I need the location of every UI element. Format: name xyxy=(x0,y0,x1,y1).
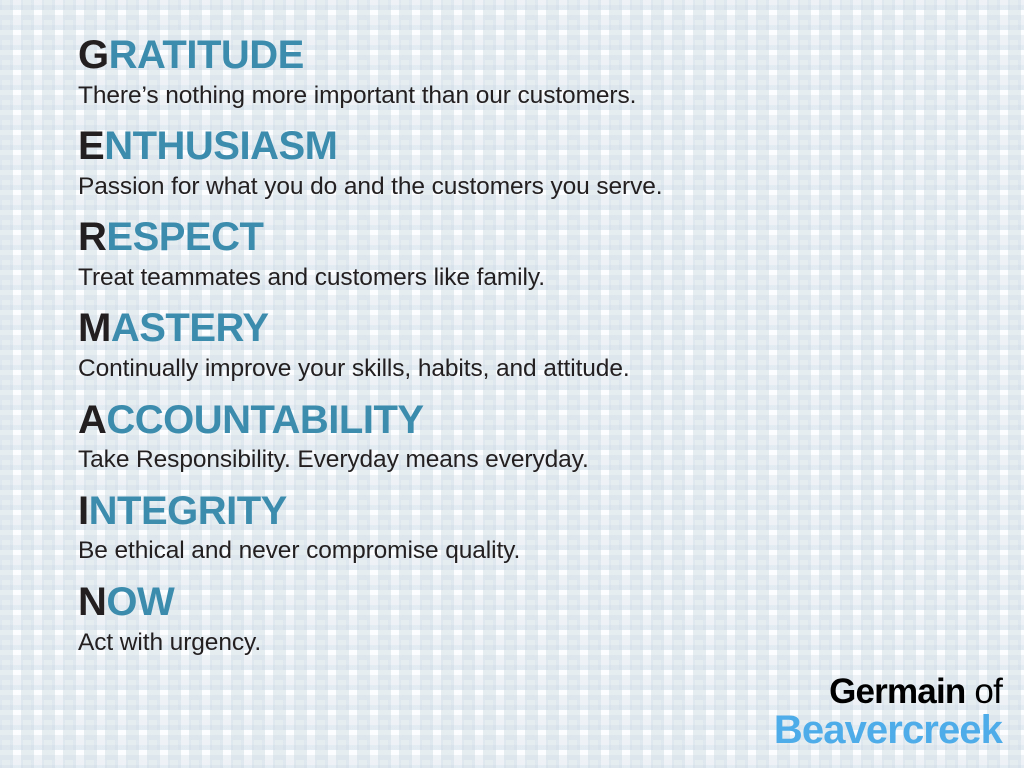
value-initial-letter: I xyxy=(78,489,89,533)
values-poster: GRATITUDE There’s nothing more important… xyxy=(0,0,1024,768)
value-heading-remainder: RATITUDE xyxy=(109,33,304,77)
value-block-respect: RESPECT Treat teammates and customers li… xyxy=(78,216,978,294)
brand-logo-name: Germain xyxy=(829,672,965,711)
value-heading-integrity: INTEGRITY xyxy=(78,490,978,533)
value-block-mastery: MASTERY Continually improve your skills,… xyxy=(78,307,978,385)
value-description-gratitude: There’s nothing more important than our … xyxy=(78,80,978,112)
value-heading-respect: RESPECT xyxy=(78,216,978,259)
value-heading-gratitude: GRATITUDE xyxy=(78,34,978,77)
value-initial-letter: E xyxy=(78,124,104,168)
value-heading-remainder: OW xyxy=(106,580,174,624)
value-heading-accountability: ACCOUNTABILITY xyxy=(78,399,978,442)
value-description-mastery: Continually improve your skills, habits,… xyxy=(78,353,978,385)
value-heading-remainder: ASTERY xyxy=(111,306,269,350)
value-description-integrity: Be ethical and never compromise quality. xyxy=(78,535,978,567)
value-heading-remainder: ESPECT xyxy=(106,215,263,259)
value-initial-letter: G xyxy=(78,33,109,77)
value-heading-remainder: NTEGRITY xyxy=(89,489,287,533)
value-description-enthusiasm: Passion for what you do and the customer… xyxy=(78,171,978,203)
value-description-now: Act with urgency. xyxy=(78,627,978,659)
brand-logo-location: Beavercreek xyxy=(774,710,1002,750)
value-heading-mastery: MASTERY xyxy=(78,307,978,350)
brand-logo: Germain of Beavercreek xyxy=(774,674,1002,750)
value-heading-remainder: CCOUNTABILITY xyxy=(106,398,423,442)
value-heading-remainder: NTHUSIASM xyxy=(104,124,337,168)
value-description-accountability: Take Responsibility. Everyday means ever… xyxy=(78,444,978,476)
value-initial-letter: R xyxy=(78,215,106,259)
value-block-gratitude: GRATITUDE There’s nothing more important… xyxy=(78,34,978,112)
value-initial-letter: N xyxy=(78,580,106,624)
value-initial-letter: A xyxy=(78,398,106,442)
brand-logo-name-line: Germain of xyxy=(774,674,1002,709)
value-block-accountability: ACCOUNTABILITY Take Responsibility. Ever… xyxy=(78,399,978,477)
value-heading-enthusiasm: ENTHUSIASM xyxy=(78,125,978,168)
value-block-integrity: INTEGRITY Be ethical and never compromis… xyxy=(78,490,978,568)
value-heading-now: NOW xyxy=(78,581,978,624)
brand-logo-connector: of xyxy=(965,672,1002,711)
value-block-enthusiasm: ENTHUSIASM Passion for what you do and t… xyxy=(78,125,978,203)
core-values-list: GRATITUDE There’s nothing more important… xyxy=(78,34,978,672)
value-block-now: NOW Act with urgency. xyxy=(78,581,978,659)
value-description-respect: Treat teammates and customers like famil… xyxy=(78,262,978,294)
value-initial-letter: M xyxy=(78,306,111,350)
